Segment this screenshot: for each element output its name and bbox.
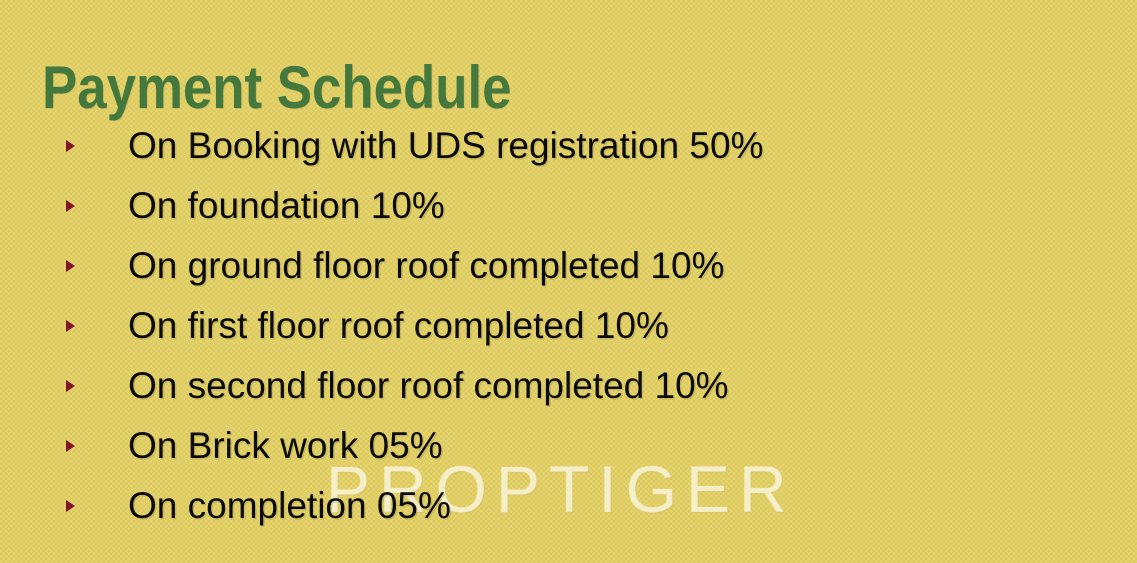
triangle-bullet-icon bbox=[66, 200, 75, 212]
list-item-label: On second floor roof completed 10% bbox=[128, 362, 729, 410]
list-item: On second floor roof completed 10% bbox=[0, 362, 1137, 422]
list-item: On completion 05% bbox=[0, 482, 1137, 542]
list-item: On ground floor roof completed 10% bbox=[0, 242, 1137, 302]
list-item-label: On ground floor roof completed 10% bbox=[128, 242, 724, 290]
triangle-bullet-icon bbox=[66, 140, 75, 152]
list-item-label: On Brick work 05% bbox=[128, 422, 443, 470]
triangle-bullet-icon bbox=[66, 260, 75, 272]
page-title: Payment Schedule bbox=[42, 54, 512, 122]
list-item-label: On foundation 10% bbox=[128, 182, 445, 230]
payment-schedule-slide: PROPTIGER Payment Schedule On Booking wi… bbox=[0, 0, 1137, 563]
list-item-label: On first floor roof completed 10% bbox=[128, 302, 669, 350]
triangle-bullet-icon bbox=[66, 500, 75, 512]
payment-schedule-list: On Booking with UDS registration 50% On … bbox=[0, 122, 1137, 542]
triangle-bullet-icon bbox=[66, 320, 75, 332]
list-item: On Brick work 05% bbox=[0, 422, 1137, 482]
list-item: On foundation 10% bbox=[0, 182, 1137, 242]
list-item: On Booking with UDS registration 50% bbox=[0, 122, 1137, 182]
list-item: On first floor roof completed 10% bbox=[0, 302, 1137, 362]
triangle-bullet-icon bbox=[66, 440, 75, 452]
list-item-label: On Booking with UDS registration 50% bbox=[128, 122, 763, 170]
list-item-label: On completion 05% bbox=[128, 482, 451, 530]
triangle-bullet-icon bbox=[66, 380, 75, 392]
